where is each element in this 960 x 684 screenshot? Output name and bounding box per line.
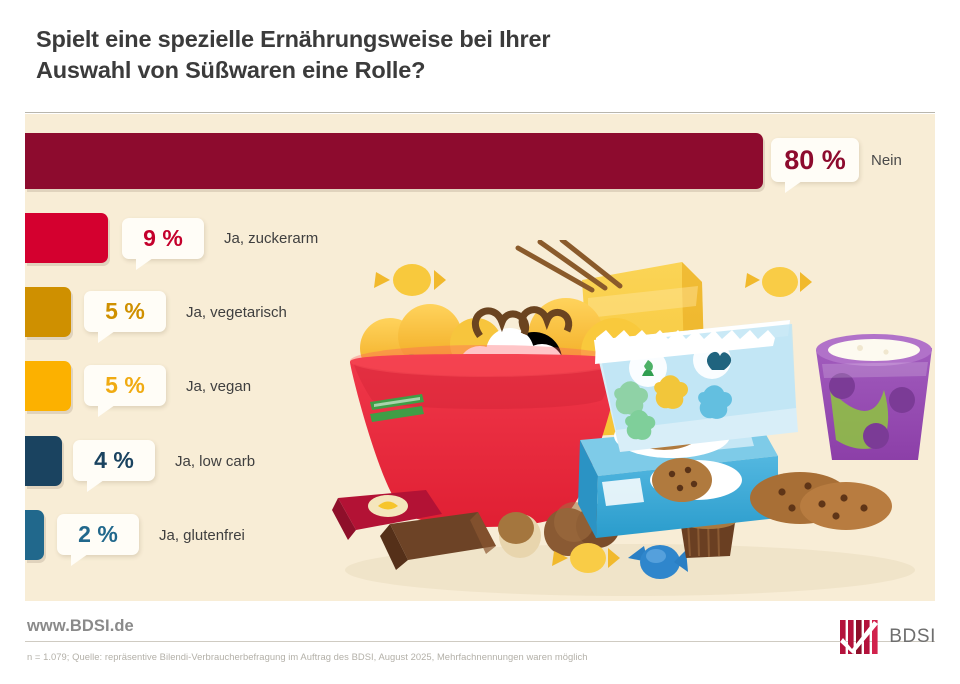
bar-lowcarb	[25, 436, 62, 486]
bdsi-website-link[interactable]: www.BDSI.de	[27, 617, 134, 636]
bar-zuckerarm	[25, 213, 108, 263]
bdsi-logo-text: BDSI	[889, 626, 936, 648]
bar-nein	[25, 133, 763, 189]
value-bubble-vegetarisch: 5 %	[84, 291, 166, 332]
title-line-1: Spielt eine spezielle Ernährungsweise be…	[36, 24, 736, 55]
sweets-illustration	[330, 240, 935, 602]
title-line-2: Auswahl von Süßwaren eine Rolle?	[36, 55, 736, 86]
value-bubble-lowcarb: 4 %	[73, 440, 155, 481]
bar-glutenfrei	[25, 510, 44, 560]
label-glutenfrei: Ja, glutenfrei	[159, 527, 245, 544]
footer-divider	[25, 641, 935, 642]
value-zuckerarm: 9 %	[143, 225, 183, 252]
value-vegetarisch: 5 %	[105, 298, 145, 325]
gummy-bag	[594, 320, 798, 452]
yogurt-cup	[816, 334, 932, 460]
value-bubble-glutenfrei: 2 %	[57, 514, 139, 555]
bar-vegan	[25, 361, 71, 411]
value-bubble-vegan: 5 %	[84, 365, 166, 406]
bar-vegetarisch	[25, 287, 71, 337]
value-glutenfrei: 2 %	[78, 521, 118, 548]
label-vegan: Ja, vegan	[186, 378, 251, 395]
value-nein: 80 %	[784, 145, 846, 176]
label-zuckerarm: Ja, zuckerarm	[224, 230, 318, 247]
page-title: Spielt eine spezielle Ernährungsweise be…	[36, 24, 736, 86]
title-divider	[25, 112, 935, 113]
value-lowcarb: 4 %	[94, 447, 134, 474]
value-vegan: 5 %	[105, 372, 145, 399]
label-nein: Nein	[871, 152, 902, 169]
value-bubble-zuckerarm: 9 %	[122, 218, 204, 259]
bdsi-logo: BDSI	[840, 617, 936, 657]
bdsi-logo-mark	[840, 620, 880, 654]
label-vegetarisch: Ja, vegetarisch	[186, 304, 287, 321]
label-lowcarb: Ja, low carb	[175, 453, 255, 470]
source-note: n = 1.079; Quelle: repräsentive Bilendi-…	[27, 651, 588, 662]
value-bubble-nein: 80 %	[771, 138, 859, 182]
infographic-root: Spielt eine spezielle Ernährungsweise be…	[0, 0, 960, 684]
